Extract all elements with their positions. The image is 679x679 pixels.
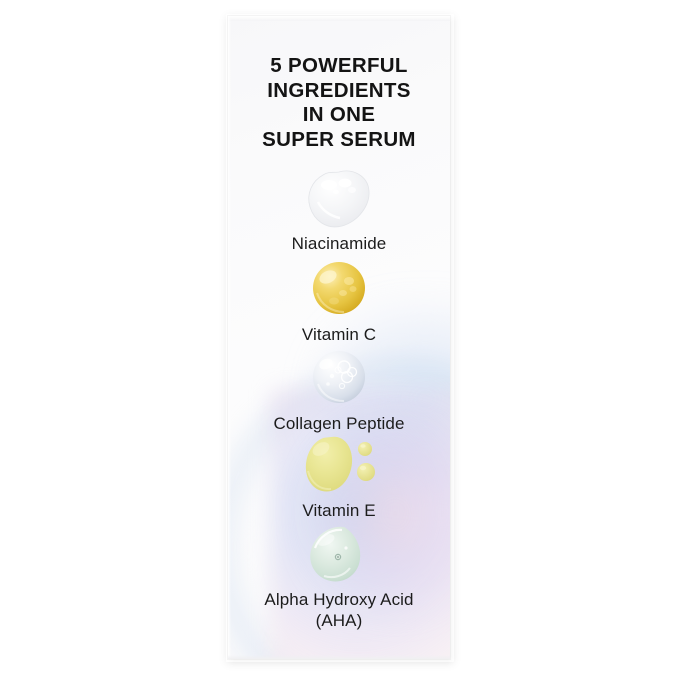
ingredient-item-niacinamide: Niacinamide [228,168,450,254]
ingredient-icon-wrap [228,524,450,586]
headline: 5 POWERFUL INGREDIENTS IN ONE SUPER SERU… [228,54,450,152]
serum-drop-gold-icon [304,259,374,319]
ingredient-icon-wrap [228,168,450,230]
serum-drop-yellow-icon [297,435,381,497]
ingredient-label: Niacinamide [228,233,450,254]
ingredient-item-vitamin-e: Vitamin E [228,435,450,521]
serum-drop-clear-icon [300,168,378,230]
headline-line-1: 5 POWERFUL [228,54,450,79]
ingredient-label: Alpha Hydroxy Acid (AHA) [228,589,450,631]
headline-line-3: IN ONE [228,103,450,128]
ingredient-item-alpha-hydroxy-acid: Alpha Hydroxy Acid (AHA) [228,524,450,631]
ingredient-label: Vitamin E [228,500,450,521]
ingredient-icon-wrap [228,435,450,497]
headline-line-4: SUPER SERUM [228,128,450,153]
product-image-canvas: 5 POWERFUL INGREDIENTS IN ONE SUPER SERU… [0,0,679,679]
ingredient-icon-wrap [228,259,450,321]
product-box-panel: 5 POWERFUL INGREDIENTS IN ONE SUPER SERU… [228,16,450,659]
serum-drop-bubble-icon [304,348,374,408]
ingredient-item-collagen-peptide: Collagen Peptide [228,348,450,434]
panel-content: 5 POWERFUL INGREDIENTS IN ONE SUPER SERU… [228,16,450,659]
serum-drop-mint-icon [300,524,378,586]
ingredient-item-vitamin-c: Vitamin C [228,259,450,345]
ingredient-icon-wrap [228,348,450,410]
headline-line-2: INGREDIENTS [228,79,450,104]
ingredient-label: Collagen Peptide [228,413,450,434]
ingredient-label: Vitamin C [228,324,450,345]
